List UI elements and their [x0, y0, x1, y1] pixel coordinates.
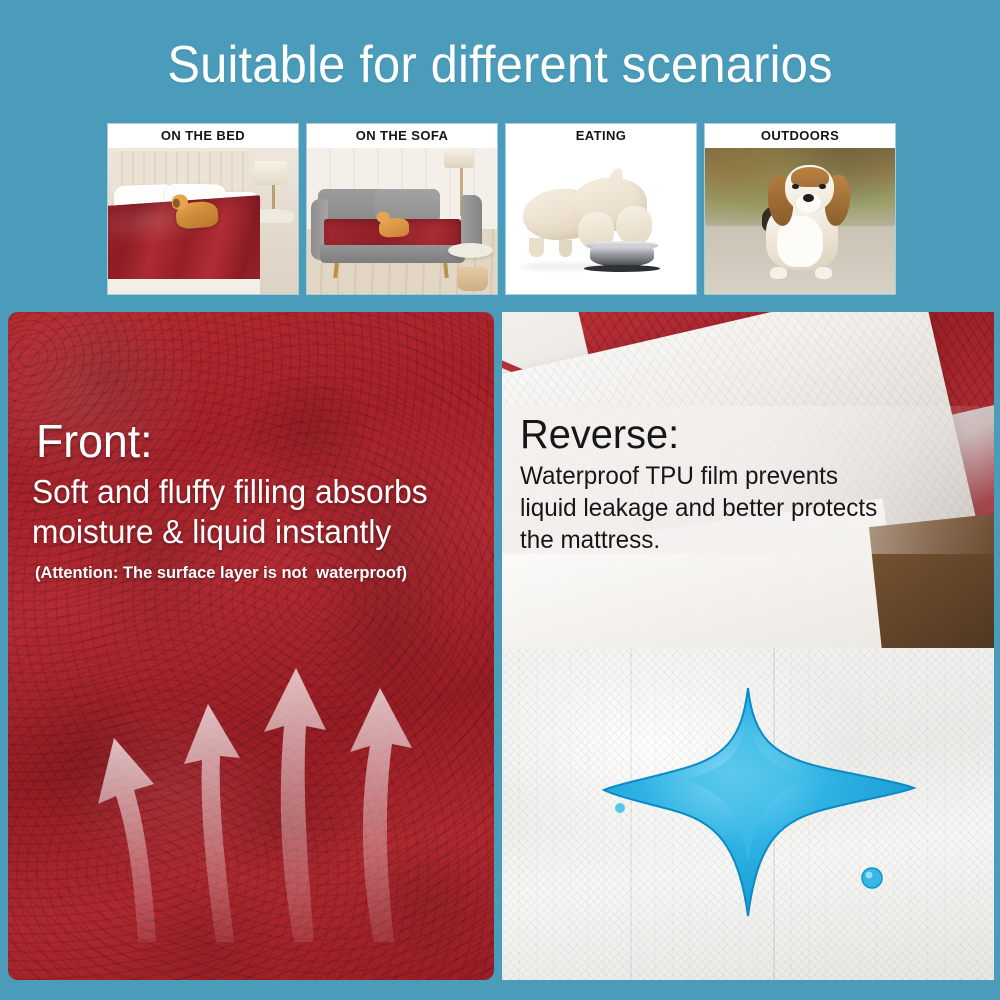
scenario-card-on-the-sofa[interactable]: ON THE SOFA	[307, 124, 497, 294]
scenario-label: ON THE BED	[108, 124, 298, 148]
scenario-card-outdoors[interactable]: OUTDOORS	[705, 124, 895, 294]
reverse-side-panel: Reverse: Waterproof TPU film prevents li…	[502, 312, 994, 980]
arrow-up-icon	[350, 688, 412, 942]
dog-on-sofa-icon	[379, 217, 410, 237]
reverse-body-line-2: liquid leakage and better protects	[520, 492, 937, 524]
front-side-panel: Front: Soft and fluffy filling absorbs m…	[8, 312, 494, 980]
front-body-line-1: Soft and fluffy filling absorbs	[32, 472, 464, 512]
scenario-label: ON THE SOFA	[307, 124, 497, 148]
moisture-wicking-arrows	[68, 642, 448, 942]
comparison-panels: Front: Soft and fluffy filling absorbs m…	[0, 312, 1000, 984]
scenario-label: EATING	[506, 124, 696, 148]
outdoors-scene-photo	[705, 124, 895, 294]
eating-scene-photo	[506, 124, 696, 294]
reverse-body-line-1: Waterproof TPU film prevents	[520, 460, 937, 492]
arrow-up-icon	[264, 668, 326, 942]
front-attention-note: (Attention: The surface layer is not wat…	[35, 562, 407, 584]
scenario-card-strip: ON THE BED ON THE SOFA	[108, 124, 898, 294]
reverse-body-line-3: the mattress.	[520, 524, 937, 556]
page-title: Suitable for different scenarios	[30, 36, 970, 94]
scenario-card-on-the-bed[interactable]: ON THE BED	[108, 124, 298, 294]
sofa-scene-photo	[307, 124, 497, 294]
front-body-line-2: moisture & liquid instantly	[32, 512, 464, 552]
reverse-heading: Reverse:	[520, 412, 679, 456]
arrow-up-icon	[184, 704, 240, 942]
food-bowl-icon	[590, 246, 655, 266]
reverse-body-text: Waterproof TPU film prevents liquid leak…	[520, 460, 937, 556]
front-body-text: Soft and fluffy filling absorbs moisture…	[32, 472, 464, 552]
front-heading: Front:	[36, 416, 153, 466]
arrow-up-icon	[98, 738, 156, 942]
waterproof-demo-photo	[502, 648, 994, 980]
liquid-spill-icon	[598, 684, 918, 924]
bed-scene-photo	[108, 124, 298, 294]
scenario-card-eating[interactable]: EATING	[506, 124, 696, 294]
dog-on-bed-icon	[175, 200, 219, 229]
scenario-label: OUTDOORS	[705, 124, 895, 148]
